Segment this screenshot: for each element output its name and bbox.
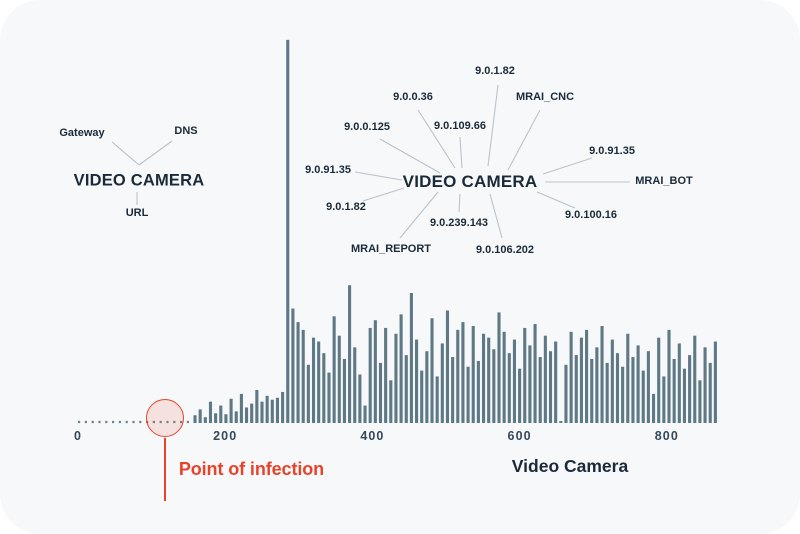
bar [358, 375, 361, 424]
bar [523, 328, 526, 423]
bar [410, 293, 413, 423]
bar [333, 316, 336, 423]
bar [539, 357, 542, 423]
bar [255, 390, 258, 423]
bar [580, 338, 583, 423]
bar [497, 312, 500, 423]
bar [230, 399, 233, 423]
bar [260, 402, 263, 423]
bars-group [193, 40, 716, 423]
bar [559, 421, 562, 423]
bar [693, 336, 696, 423]
bar [276, 398, 279, 423]
bar [662, 376, 665, 423]
bar [518, 369, 521, 423]
infographic-card: VIDEO CAMERAGatewayDNSURLVIDEO CAMERA9.0… [0, 0, 800, 534]
bar [534, 324, 537, 423]
bar [307, 365, 310, 423]
bar [240, 394, 243, 423]
bar [678, 343, 681, 423]
bar [549, 351, 552, 423]
bar [420, 371, 423, 423]
bar [570, 332, 573, 423]
bar [389, 380, 392, 423]
bar [446, 310, 449, 423]
bar [503, 332, 506, 423]
bar [544, 336, 547, 423]
bar [590, 359, 593, 423]
bar [363, 406, 366, 423]
screenshot-root: VIDEO CAMERAGatewayDNSURLVIDEO CAMERA9.0… [0, 0, 800, 534]
bar [312, 338, 315, 423]
bar [436, 376, 439, 423]
bar [461, 322, 464, 423]
bar [224, 414, 227, 423]
bar [317, 342, 320, 423]
bar [250, 404, 253, 423]
bar [626, 334, 629, 423]
bar [709, 363, 712, 423]
bar [374, 320, 377, 423]
bar [266, 396, 269, 423]
bar [513, 340, 516, 423]
bar [482, 334, 485, 423]
bar [297, 322, 300, 423]
bar [704, 347, 707, 423]
x-tick-label: 600 [508, 429, 532, 443]
bar [245, 407, 248, 423]
x-tick-label: 400 [360, 429, 384, 443]
bar [405, 355, 408, 423]
bar-chart [0, 0, 800, 534]
bar [600, 326, 603, 423]
bar [611, 340, 614, 423]
bar [338, 336, 341, 423]
bar [487, 338, 490, 423]
bar [585, 330, 588, 423]
bar [302, 330, 305, 423]
bar [528, 345, 531, 423]
bar [327, 373, 330, 423]
bar [425, 351, 428, 423]
x-tick-label: 0 [74, 429, 82, 443]
bar [642, 371, 645, 423]
x-tick-label: 200 [213, 429, 237, 443]
bar [616, 353, 619, 423]
bar [348, 285, 351, 423]
bar [595, 347, 598, 423]
bar [688, 355, 691, 423]
bar [477, 361, 480, 423]
bar [564, 365, 567, 423]
bar [472, 326, 475, 423]
bar [698, 380, 701, 423]
bar [193, 415, 196, 423]
bar [647, 351, 650, 423]
bar [508, 353, 511, 423]
bar [384, 328, 387, 423]
bar [652, 394, 655, 423]
bar [673, 359, 676, 423]
bar [467, 367, 470, 423]
x-axis-title: Video Camera [512, 456, 628, 477]
bar [631, 357, 634, 423]
bar [683, 369, 686, 423]
bar [281, 392, 284, 423]
bar [379, 363, 382, 423]
bar [621, 367, 624, 423]
bar [235, 411, 238, 423]
bar [554, 342, 557, 423]
bar [606, 363, 609, 423]
point-of-infection-leader-line [164, 438, 166, 501]
bar [353, 347, 356, 423]
bar [637, 345, 640, 423]
bar [209, 402, 212, 423]
bar [441, 343, 444, 423]
bar [430, 318, 433, 423]
bar [199, 409, 202, 423]
bar [271, 400, 274, 423]
bar [575, 355, 578, 423]
bar [657, 338, 660, 423]
bar [214, 413, 217, 423]
bar [369, 328, 372, 423]
bar [492, 349, 495, 423]
bar [343, 359, 346, 423]
bar [219, 406, 222, 423]
bar [204, 417, 207, 423]
bar [667, 330, 670, 423]
bar [415, 340, 418, 423]
bar [291, 309, 294, 423]
bar [400, 314, 403, 423]
x-tick-label: 800 [655, 429, 679, 443]
point-of-infection-label: Point of infection [179, 459, 324, 480]
bar [322, 353, 325, 423]
bar [394, 334, 397, 423]
bar [456, 330, 459, 423]
point-of-infection-highlight [146, 399, 184, 437]
bar [451, 357, 454, 423]
bar [714, 342, 717, 423]
bar [286, 40, 289, 423]
